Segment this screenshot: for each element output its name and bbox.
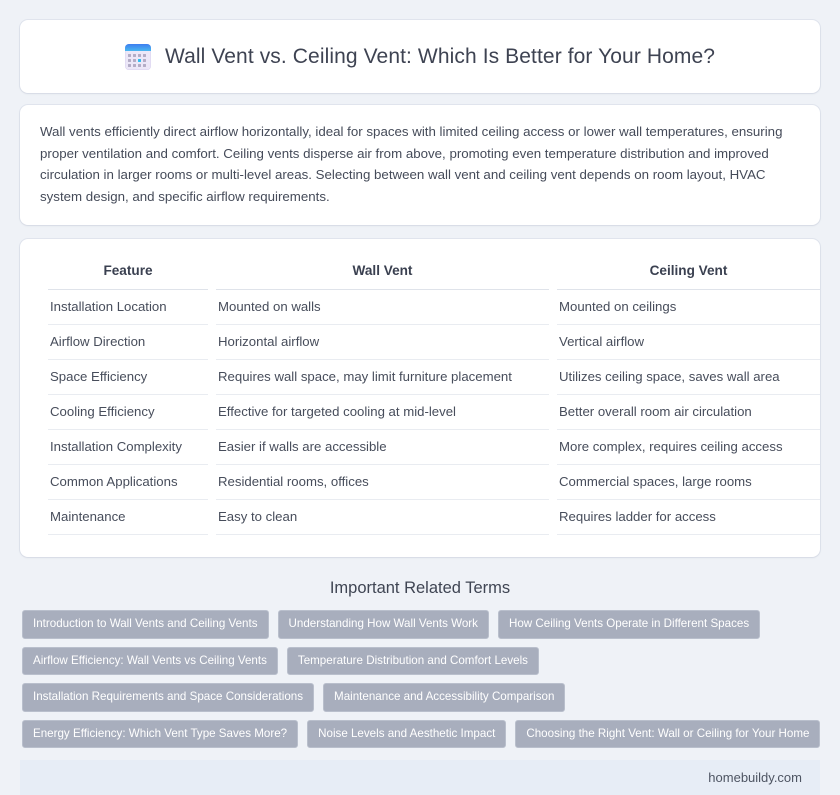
calendar-icon-grid (128, 54, 148, 67)
page-footer: homebuildy.com (20, 760, 820, 795)
calendar-icon-cell (133, 59, 136, 62)
cell-wall-vent: Residential rooms, offices (216, 465, 549, 500)
cell-feature: Installation Complexity (48, 430, 208, 465)
cell-wall-vent: Effective for targeted cooling at mid-le… (216, 395, 549, 430)
comparison-table-body: Installation Location Mounted on walls M… (48, 290, 820, 535)
cell-ceiling-vent: Commercial spaces, large rooms (557, 465, 820, 500)
cell-ceiling-vent: More complex, requires ceiling access (557, 430, 820, 465)
cell-wall-vent: Easier if walls are accessible (216, 430, 549, 465)
calendar-icon-cell (143, 64, 146, 67)
calendar-icon-cell (133, 54, 136, 57)
page-header-card: Wall Vent vs. Ceiling Vent: Which Is Bet… (20, 20, 820, 93)
cell-feature: Airflow Direction (48, 325, 208, 360)
calendar-icon (125, 44, 151, 70)
cell-wall-vent: Horizontal airflow (216, 325, 549, 360)
column-header-wall-vent: Wall Vent (216, 257, 549, 290)
calendar-icon-cell (138, 54, 141, 57)
footer-site-name: homebuildy.com (708, 770, 802, 785)
related-term-tag[interactable]: Airflow Efficiency: Wall Vents vs Ceilin… (22, 647, 278, 676)
calendar-icon-cell (138, 64, 141, 67)
comparison-table: Feature Wall Vent Ceiling Vent Installat… (40, 257, 828, 535)
table-row: Maintenance Easy to clean Requires ladde… (48, 500, 820, 535)
calendar-icon-cell (143, 59, 146, 62)
related-term-tag[interactable]: Installation Requirements and Space Cons… (22, 683, 314, 712)
calendar-icon-cell (143, 54, 146, 57)
table-row: Installation Location Mounted on walls M… (48, 290, 820, 325)
cell-feature: Installation Location (48, 290, 208, 325)
cell-ceiling-vent: Vertical airflow (557, 325, 820, 360)
table-row: Installation Complexity Easier if walls … (48, 430, 820, 465)
cell-wall-vent: Mounted on walls (216, 290, 549, 325)
column-header-feature: Feature (48, 257, 208, 290)
related-term-tag[interactable]: Introduction to Wall Vents and Ceiling V… (22, 610, 269, 639)
cell-ceiling-vent: Mounted on ceilings (557, 290, 820, 325)
related-term-tag[interactable]: Noise Levels and Aesthetic Impact (307, 720, 506, 749)
cell-ceiling-vent: Better overall room air circulation (557, 395, 820, 430)
intro-paragraph: Wall vents efficiently direct airflow ho… (40, 121, 800, 207)
calendar-icon-top-band (125, 44, 151, 51)
table-row: Space Efficiency Requires wall space, ma… (48, 360, 820, 395)
related-term-tag[interactable]: Understanding How Wall Vents Work (278, 610, 489, 639)
tag-row: Energy Efficiency: Which Vent Type Saves… (20, 720, 820, 749)
cell-ceiling-vent: Utilizes ceiling space, saves wall area (557, 360, 820, 395)
related-terms-title: Important Related Terms (20, 579, 820, 598)
page-root: Wall Vent vs. Ceiling Vent: Which Is Bet… (0, 0, 840, 780)
cell-feature: Space Efficiency (48, 360, 208, 395)
related-term-tag[interactable]: Energy Efficiency: Which Vent Type Saves… (22, 720, 298, 749)
calendar-icon-cell-highlight (138, 59, 141, 62)
table-row: Cooling Efficiency Effective for targete… (48, 395, 820, 430)
intro-card: Wall vents efficiently direct airflow ho… (20, 105, 820, 225)
tag-row: Installation Requirements and Space Cons… (20, 683, 820, 712)
related-term-tag[interactable]: Choosing the Right Vent: Wall or Ceiling… (515, 720, 820, 749)
tag-row: Introduction to Wall Vents and Ceiling V… (20, 610, 820, 639)
cell-wall-vent: Easy to clean (216, 500, 549, 535)
related-term-tag[interactable]: Maintenance and Accessibility Comparison (323, 683, 565, 712)
related-terms-section: Important Related Terms Introduction to … (20, 571, 820, 756)
calendar-icon-cell (128, 59, 131, 62)
cell-ceiling-vent: Requires ladder for access (557, 500, 820, 535)
related-terms-tag-list: Introduction to Wall Vents and Ceiling V… (20, 610, 820, 748)
calendar-icon-cell (128, 64, 131, 67)
comparison-table-head: Feature Wall Vent Ceiling Vent (48, 257, 820, 290)
cell-wall-vent: Requires wall space, may limit furniture… (216, 360, 549, 395)
table-row: Airflow Direction Horizontal airflow Ver… (48, 325, 820, 360)
related-term-tag[interactable]: How Ceiling Vents Operate in Different S… (498, 610, 760, 639)
tag-row: Airflow Efficiency: Wall Vents vs Ceilin… (20, 647, 820, 676)
calendar-icon-cell (128, 54, 131, 57)
table-header-row: Feature Wall Vent Ceiling Vent (48, 257, 820, 290)
cell-feature: Common Applications (48, 465, 208, 500)
column-header-ceiling-vent: Ceiling Vent (557, 257, 820, 290)
comparison-table-card: Feature Wall Vent Ceiling Vent Installat… (20, 239, 820, 557)
cell-feature: Maintenance (48, 500, 208, 535)
page-title: Wall Vent vs. Ceiling Vent: Which Is Bet… (165, 45, 715, 69)
related-term-tag[interactable]: Temperature Distribution and Comfort Lev… (287, 647, 539, 676)
table-row: Common Applications Residential rooms, o… (48, 465, 820, 500)
cell-feature: Cooling Efficiency (48, 395, 208, 430)
calendar-icon-cell (133, 64, 136, 67)
